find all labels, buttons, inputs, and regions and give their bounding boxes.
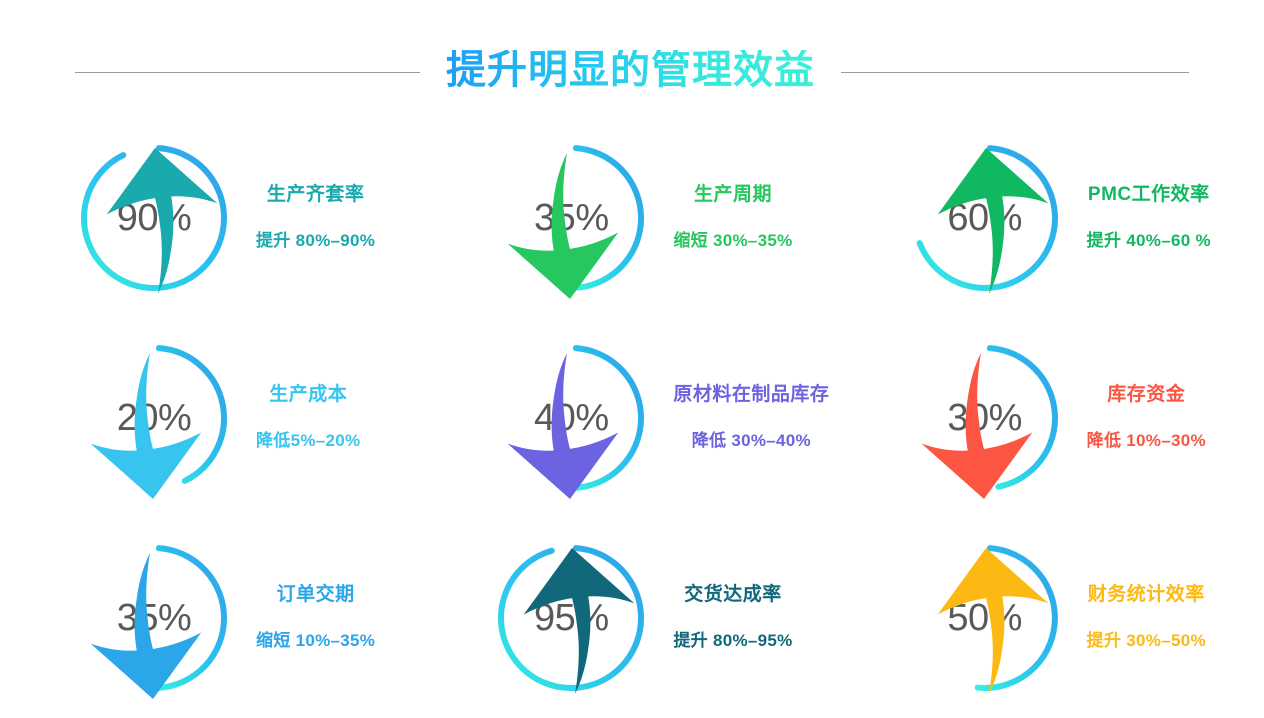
- gauge-center: 95%: [493, 540, 649, 696]
- arrow-up-icon: [907, 546, 1063, 702]
- gauge-center: 60%: [907, 140, 1063, 296]
- metric-gauge: 90%: [76, 140, 232, 296]
- gauge-center: 35%: [493, 140, 649, 296]
- metric-gauge: 30%: [907, 340, 1063, 496]
- metric-labels: 库存资金 降低 10%–30%: [1087, 385, 1206, 451]
- metric-gauge: 95%: [493, 540, 649, 696]
- header-rule-right: [841, 72, 1189, 73]
- metric-labels: 财务统计效率 提升 30%–50%: [1087, 585, 1206, 651]
- arrow-up-icon: [493, 546, 649, 702]
- metrics-grid: 90% 生产齐套率 提升 80%–90%: [0, 118, 1264, 718]
- metric-cell: 60% PMC工作效率 提升 40%–60 %: [843, 118, 1264, 318]
- metric-title: 生产齐套率: [267, 185, 365, 206]
- metric-title: 生产成本: [269, 385, 347, 406]
- metric-labels: 交货达成率 提升 80%–95%: [673, 585, 792, 651]
- gauge-center: 30%: [907, 340, 1063, 496]
- metric-labels: 生产齐套率 提升 80%–90%: [256, 185, 375, 251]
- gauge-center: 90%: [76, 140, 232, 296]
- metric-labels: PMC工作效率 提升 40%–60 %: [1087, 185, 1211, 251]
- metric-cell: 95% 交货达成率 提升 80%–95%: [421, 518, 842, 718]
- gauge-center: 50%: [907, 540, 1063, 696]
- gauge-center: 20%: [76, 340, 232, 496]
- metric-cell: 20% 生产成本 降低5%–20%: [0, 318, 421, 518]
- metric-gauge: 35%: [76, 540, 232, 696]
- metric-cell: 35% 生产周期 缩短 30%–35%: [421, 118, 842, 318]
- metric-subtitle: 提升 40%–60 %: [1087, 232, 1211, 251]
- page-title: 提升明显的管理效益: [446, 50, 815, 94]
- metric-subtitle: 提升 30%–50%: [1087, 632, 1206, 651]
- page-header: 提升明显的管理效益: [0, 38, 1264, 106]
- metric-gauge: 20%: [76, 340, 232, 496]
- metric-title: 原材料在制品库存: [673, 385, 829, 406]
- arrow-down-icon: [493, 346, 649, 502]
- metric-subtitle: 缩短 10%–35%: [256, 632, 375, 651]
- metric-subtitle: 提升 80%–90%: [256, 232, 375, 251]
- metric-title: 生产周期: [694, 185, 772, 206]
- arrow-down-icon: [76, 346, 232, 502]
- metric-cell: 90% 生产齐套率 提升 80%–90%: [0, 118, 421, 318]
- metric-subtitle: 降低 10%–30%: [1087, 432, 1206, 451]
- metric-cell: 40% 原材料在制品库存 降低 30%–40%: [421, 318, 842, 518]
- arrow-down-icon: [493, 146, 649, 302]
- metric-subtitle: 降低5%–20%: [256, 432, 360, 451]
- gauge-center: 40%: [493, 340, 649, 496]
- arrow-down-icon: [907, 346, 1063, 502]
- metric-gauge: 40%: [493, 340, 649, 496]
- metric-subtitle: 降低 30%–40%: [692, 432, 811, 451]
- metric-gauge: 50%: [907, 540, 1063, 696]
- header-rule-left: [75, 72, 420, 73]
- arrow-up-icon: [76, 146, 232, 302]
- metric-subtitle: 缩短 30%–35%: [673, 232, 792, 251]
- metric-gauge: 35%: [493, 140, 649, 296]
- arrow-up-icon: [907, 146, 1063, 302]
- gauge-center: 35%: [76, 540, 232, 696]
- metric-cell: 35% 订单交期 缩短 10%–35%: [0, 518, 421, 718]
- arrow-down-icon: [76, 546, 232, 702]
- metric-cell: 30% 库存资金 降低 10%–30%: [843, 318, 1264, 518]
- metric-labels: 生产成本 降低5%–20%: [256, 385, 360, 451]
- metric-labels: 订单交期 缩短 10%–35%: [256, 585, 375, 651]
- metric-subtitle: 提升 80%–95%: [673, 632, 792, 651]
- metric-labels: 生产周期 缩短 30%–35%: [673, 185, 792, 251]
- metric-title: 交货达成率: [684, 585, 782, 606]
- metric-cell: 50% 财务统计效率 提升 30%–50%: [843, 518, 1264, 718]
- metric-title: 财务统计效率: [1088, 585, 1205, 606]
- metric-gauge: 60%: [907, 140, 1063, 296]
- metric-labels: 原材料在制品库存 降低 30%–40%: [673, 385, 829, 451]
- metric-title: 库存资金: [1107, 385, 1185, 406]
- metric-title: PMC工作效率: [1088, 185, 1210, 206]
- metric-title: 订单交期: [277, 585, 355, 606]
